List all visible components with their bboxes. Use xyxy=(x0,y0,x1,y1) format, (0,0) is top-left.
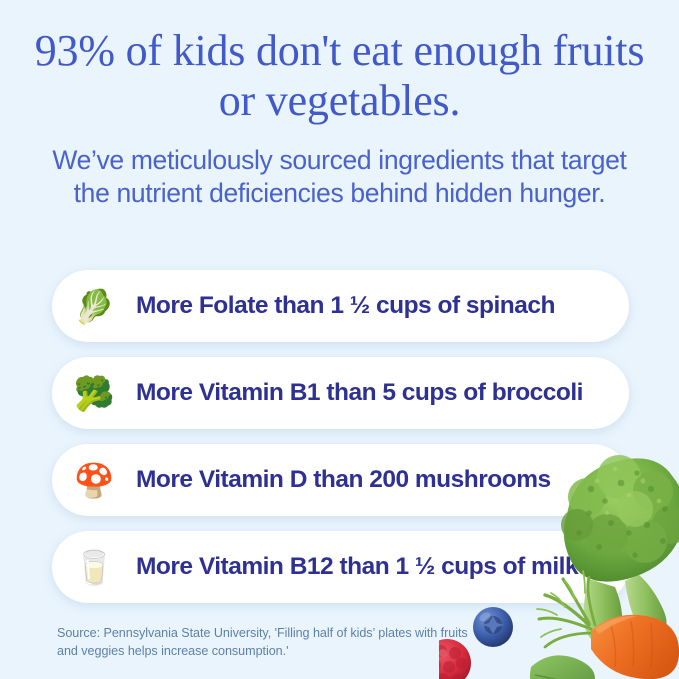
source-citation: Source: Pennsylvania State University, '… xyxy=(57,624,487,661)
list-item: 🥦 More Vitamin B1 than 5 cups of broccol… xyxy=(52,357,629,429)
benefit-label: More Vitamin D than 200 mushrooms xyxy=(136,466,551,494)
broccoli-icon: 🥦 xyxy=(52,377,136,410)
spinach-leaf xyxy=(530,655,595,679)
glass-of-milk-icon: 🥛 xyxy=(52,551,136,584)
leafy-green-icon: 🥬 xyxy=(52,290,136,323)
list-item: 🍄 More Vitamin D than 200 mushrooms xyxy=(52,444,629,516)
benefit-label: More Vitamin B1 than 5 cups of broccoli xyxy=(136,379,583,407)
benefit-label: More Vitamin B12 than 1 ½ cups of milk xyxy=(136,553,578,581)
mushroom-icon: 🍄 xyxy=(52,464,136,497)
list-item: 🥛 More Vitamin B12 than 1 ½ cups of milk xyxy=(52,531,629,603)
page-title: 93% of kids don't eat enough fruits or v… xyxy=(28,26,651,125)
list-item: 🥬 More Folate than 1 ½ cups of spinach xyxy=(52,270,629,342)
benefit-label: More Folate than 1 ½ cups of spinach xyxy=(136,292,555,320)
benefit-list: 🥬 More Folate than 1 ½ cups of spinach 🥦… xyxy=(52,270,629,618)
carrot xyxy=(591,615,679,679)
ad-banner: 93% of kids don't eat enough fruits or v… xyxy=(0,0,679,679)
subtitle-text: We’ve meticulously sourced ingredients t… xyxy=(36,144,643,211)
